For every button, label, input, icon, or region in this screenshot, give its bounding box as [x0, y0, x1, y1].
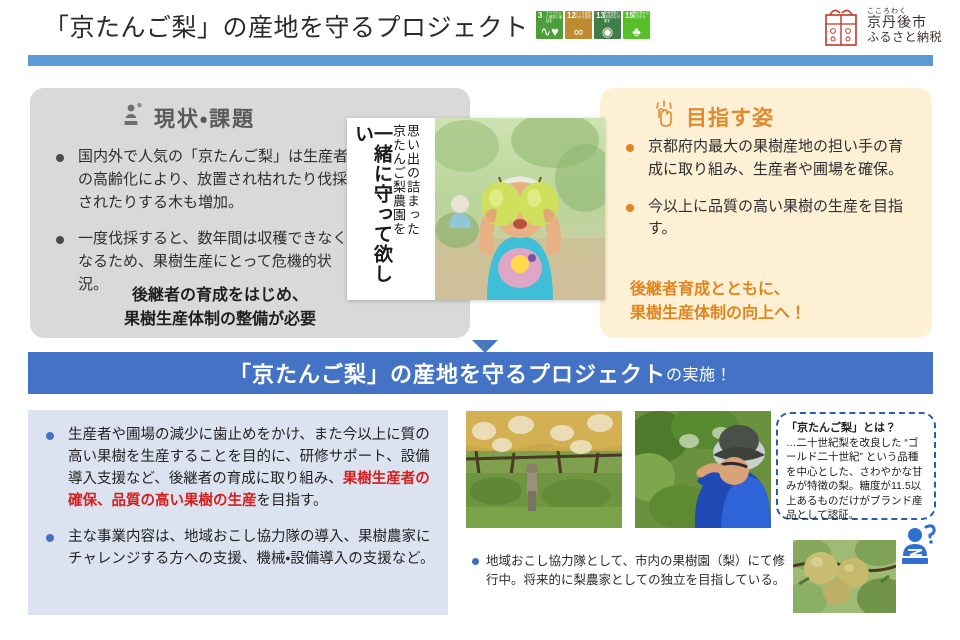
- emphasis-line-1: 後継者の育成をはじめ、: [70, 284, 370, 308]
- project-banner: 「京たんご梨」の産地を守るプロジェクト の実施！: [28, 352, 933, 394]
- banner-main-text: 「京たんご梨」の産地を守るプロジェクト: [229, 357, 666, 389]
- project-details-panel: 生産者や圃場の減少に歯止めをかけ、また今以上に質の高い果樹を生産することを目的に…: [28, 410, 448, 615]
- banner-sub-text: の実施！: [666, 361, 732, 385]
- center-photo-card: 思い出の詰まった 京たんご梨農園を 一緒に守って欲しい: [347, 118, 605, 300]
- person-problem-icon: [120, 102, 146, 133]
- heading-label: 現状・課題: [154, 103, 255, 133]
- city-brand-logo: こころわく 京丹後市 ふるさと納税: [821, 4, 942, 48]
- sdg-caption: すべての人に健康と福祉を: [546, 12, 562, 23]
- list-item: 今以上に品質の高い果樹の生産を目指す。: [624, 196, 914, 242]
- pointing-hand-icon: [652, 100, 678, 133]
- vertical-message: 思い出の詰まった 京たんご梨農園を 一緒に守って欲しい: [353, 124, 419, 294]
- sdg-icon-15: 15 陸の豊かさも守ろう ♣: [623, 11, 650, 39]
- emphasis-line-2: 果樹生産体制の向上へ！: [630, 302, 920, 326]
- list-item: 国内外で人気の「京たんご梨」は生産者の高齢化により、放置され枯れたり伐採されたり…: [54, 146, 354, 214]
- list-item: 主な事業内容は、地域おこし協力隊の導入、果樹農家にチャレンジする方への支援、機械…: [44, 526, 436, 570]
- pear-orchard-photo: [466, 411, 622, 528]
- goal-panel: 目指す姿 京都府内最大の果樹産地の担い手の育成に取り組み、生産者や圃場を確保。 …: [600, 88, 932, 338]
- sdg-icon-row: 3 すべての人に健康と福祉を ∿♥ 12 つくる責任つかう責任 ∞ 13 気候変…: [536, 11, 650, 39]
- goal-heading: 目指す姿: [652, 100, 774, 133]
- vertical-line-1: 思い出の詰まった: [406, 124, 419, 236]
- sdg-number: 3: [538, 12, 542, 20]
- emphasis-line-2: 果樹生産体制の整備が必要: [70, 308, 370, 332]
- page-title: 「京たんご梨」の産地を守るプロジェクト: [44, 8, 529, 44]
- person-question-icon: [900, 524, 940, 568]
- eye-globe-icon: ◉: [594, 25, 621, 38]
- sdg-icon-13: 13 気候変動に具体的な対策を ◉: [594, 11, 621, 39]
- goal-bullets: 京都府内最大の果樹産地の担い手の育成に取り組み、生産者や圃場を確保。 今以上に品…: [624, 136, 914, 255]
- brand-furusato-label: ふるさと納税: [867, 31, 942, 44]
- tree-bird-icon: ♣: [623, 25, 650, 38]
- heading-label: 目指す姿: [686, 102, 774, 132]
- sdg-caption: 陸の豊かさも守ろう: [633, 12, 649, 20]
- pears-on-branch-photo: [793, 540, 896, 613]
- list-item: 京都府内最大の果樹産地の担い手の育成に取り組み、生産者や圃場を確保。: [624, 136, 914, 182]
- project-bullets: 生産者や圃場の減少に歯止めをかけ、また今以上に質の高い果樹を生産することを目的に…: [44, 424, 436, 584]
- current-situation-heading: 現状・課題: [120, 102, 255, 133]
- current-situation-emphasis: 後継者の育成をはじめ、 果樹生産体制の整備が必要: [70, 284, 370, 331]
- gift-box-icon: [821, 4, 861, 48]
- callout-title: 「京たんご梨」とは？: [786, 421, 926, 436]
- infinity-icon: ∞: [565, 25, 592, 38]
- header-divider: [28, 55, 933, 66]
- list-item: 生産者や圃場の減少に歯止めをかけ、また今以上に質の高い果樹を生産することを目的に…: [44, 424, 436, 512]
- callout-body: …二十世紀梨を改良した “ゴールド二十世紀” という品種を中心とした、さわやかな…: [786, 436, 926, 523]
- bottom-photo-caption: 地域おこし協力隊として、市内の果樹園（梨）にて修行中。将来的に梨農家としての独立…: [472, 552, 786, 590]
- worker-in-blue-jacket-photo: [635, 411, 771, 528]
- vertical-line-2: 京たんご梨農園を: [392, 124, 405, 236]
- emphasis-line-1: 後継者育成とともに、: [630, 278, 920, 302]
- bullet-text-part-2: を目指す。: [257, 493, 328, 509]
- pear-definition-callout: 「京たんご梨」とは？ …二十世紀梨を改良した “ゴールド二十世紀” という品種を…: [776, 412, 936, 520]
- sdg-caption: つくる責任つかう責任: [575, 12, 591, 20]
- sdg-icon-12: 12 つくる責任つかう責任 ∞: [565, 11, 592, 39]
- sdg-icon-3: 3 すべての人に健康と福祉を ∿♥: [536, 11, 563, 39]
- heart-pulse-icon: ∿♥: [536, 25, 563, 38]
- brand-city-name: 京丹後市: [867, 15, 942, 31]
- sdg-caption: 気候変動に具体的な対策を: [604, 12, 620, 23]
- child-holding-pears-photo: [435, 118, 605, 300]
- vertical-line-3: 一緒に守って欲しい: [353, 124, 391, 294]
- goal-emphasis: 後継者育成とともに、 果樹生産体制の向上へ！: [630, 278, 920, 326]
- page-header: 「京たんご梨」の産地を守るプロジェクト 3 すべての人に健康と福祉を ∿♥ 12…: [0, 0, 960, 58]
